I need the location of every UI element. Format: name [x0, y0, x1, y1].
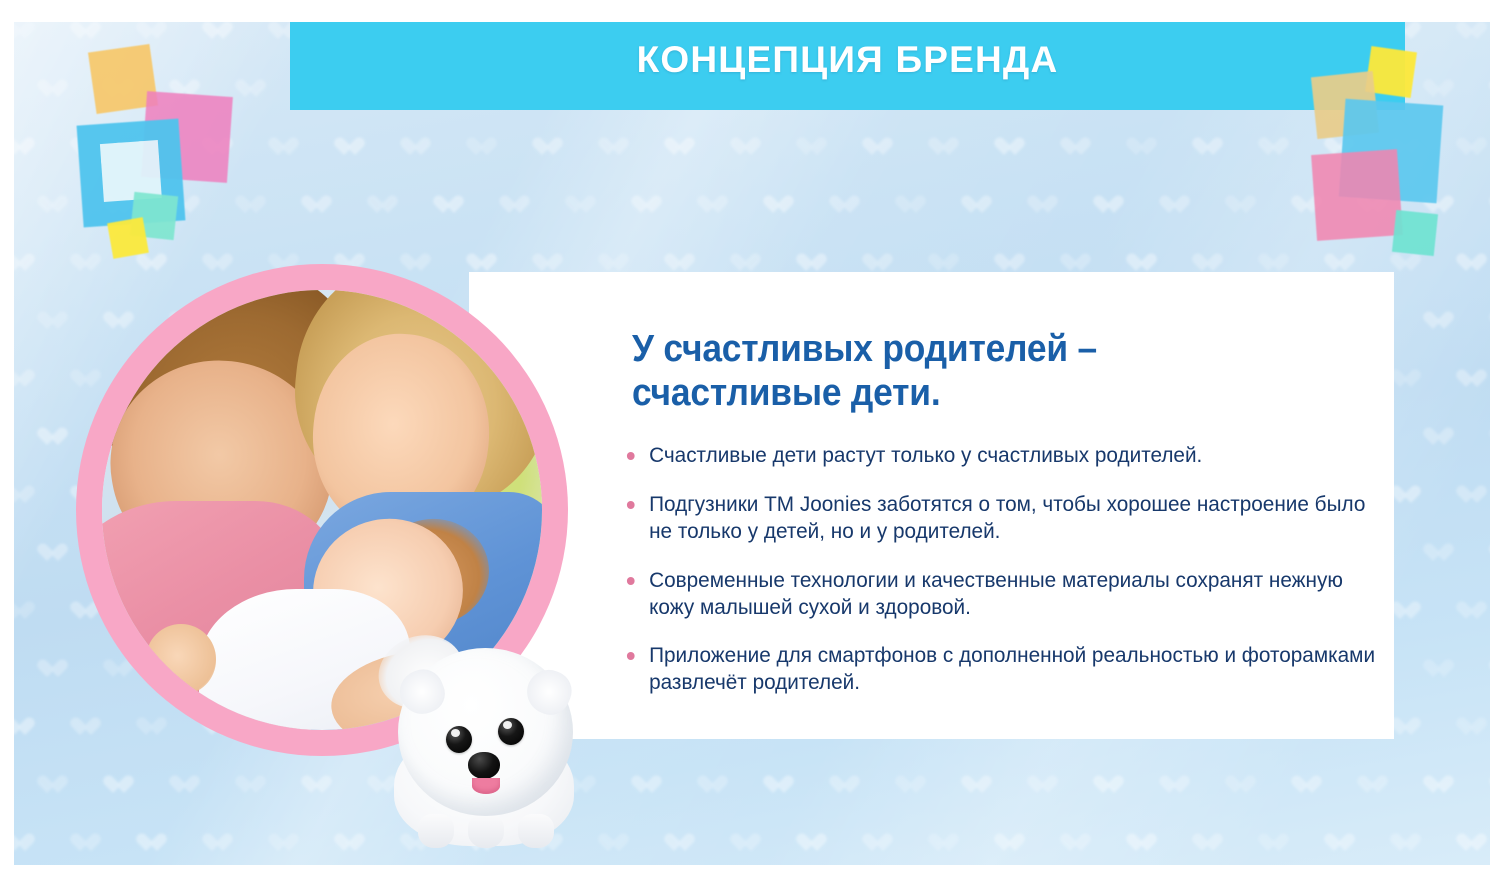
- heart-orange-icon: [88, 44, 158, 114]
- bullet-list: Счастливые дети растут только у счастлив…: [624, 442, 1404, 696]
- mascot-dog-icon: [386, 630, 601, 865]
- bullet-dot-icon: [627, 501, 635, 509]
- headline: У счастливых родителей – счастливые дети…: [632, 327, 1302, 416]
- heart-blue-ring-icon: [77, 119, 186, 228]
- dog-eye: [446, 726, 472, 753]
- bullet-item: Современные технологии и качественные ма…: [624, 567, 1377, 621]
- dog-leg: [468, 814, 504, 848]
- dog-eye: [498, 718, 524, 745]
- photo-baby-hand: [146, 624, 216, 694]
- bullet-text: Подгузники ТМ Joonies заботятся о том, ч…: [649, 492, 1365, 543]
- heart-blue-icon: [1339, 99, 1444, 204]
- dog-head: [398, 648, 573, 816]
- dog-leg: [518, 814, 554, 848]
- heart-mint-icon: [130, 192, 178, 240]
- content-panel: У счастливых родителей – счастливые дети…: [469, 272, 1394, 739]
- heart-yellow-icon: [107, 217, 149, 259]
- bullet-item: Счастливые дети растут только у счастлив…: [624, 442, 1377, 469]
- header-band: КОНЦЕПЦИЯ БРЕНДА: [290, 22, 1405, 110]
- dog-nose: [468, 752, 500, 779]
- page-title: КОНЦЕПЦИЯ БРЕНДА: [290, 39, 1405, 81]
- heart-mint-icon: [1392, 210, 1438, 256]
- bullet-text: Счастливые дети растут только у счастлив…: [649, 443, 1202, 467]
- dog-ear: [520, 663, 577, 720]
- bullet-text: Приложение для смартфонов с дополненной …: [649, 643, 1375, 694]
- heart-pink-icon: [141, 91, 233, 183]
- bullet-dot-icon: [627, 452, 635, 460]
- slide-canvas: КОНЦЕПЦИЯ БРЕНДА У счастливых родителей …: [14, 22, 1490, 865]
- bullet-text: Современные технологии и качественные ма…: [649, 568, 1343, 619]
- heart-pink-icon: [1311, 149, 1403, 241]
- bullet-item: Приложение для смартфонов с дополненной …: [624, 642, 1377, 696]
- dog-tongue: [472, 778, 500, 794]
- bullet-dot-icon: [627, 577, 635, 585]
- bullet-item: Подгузники ТМ Joonies заботятся о том, ч…: [624, 491, 1377, 545]
- dog-leg: [418, 814, 454, 848]
- bullet-dot-icon: [627, 652, 635, 660]
